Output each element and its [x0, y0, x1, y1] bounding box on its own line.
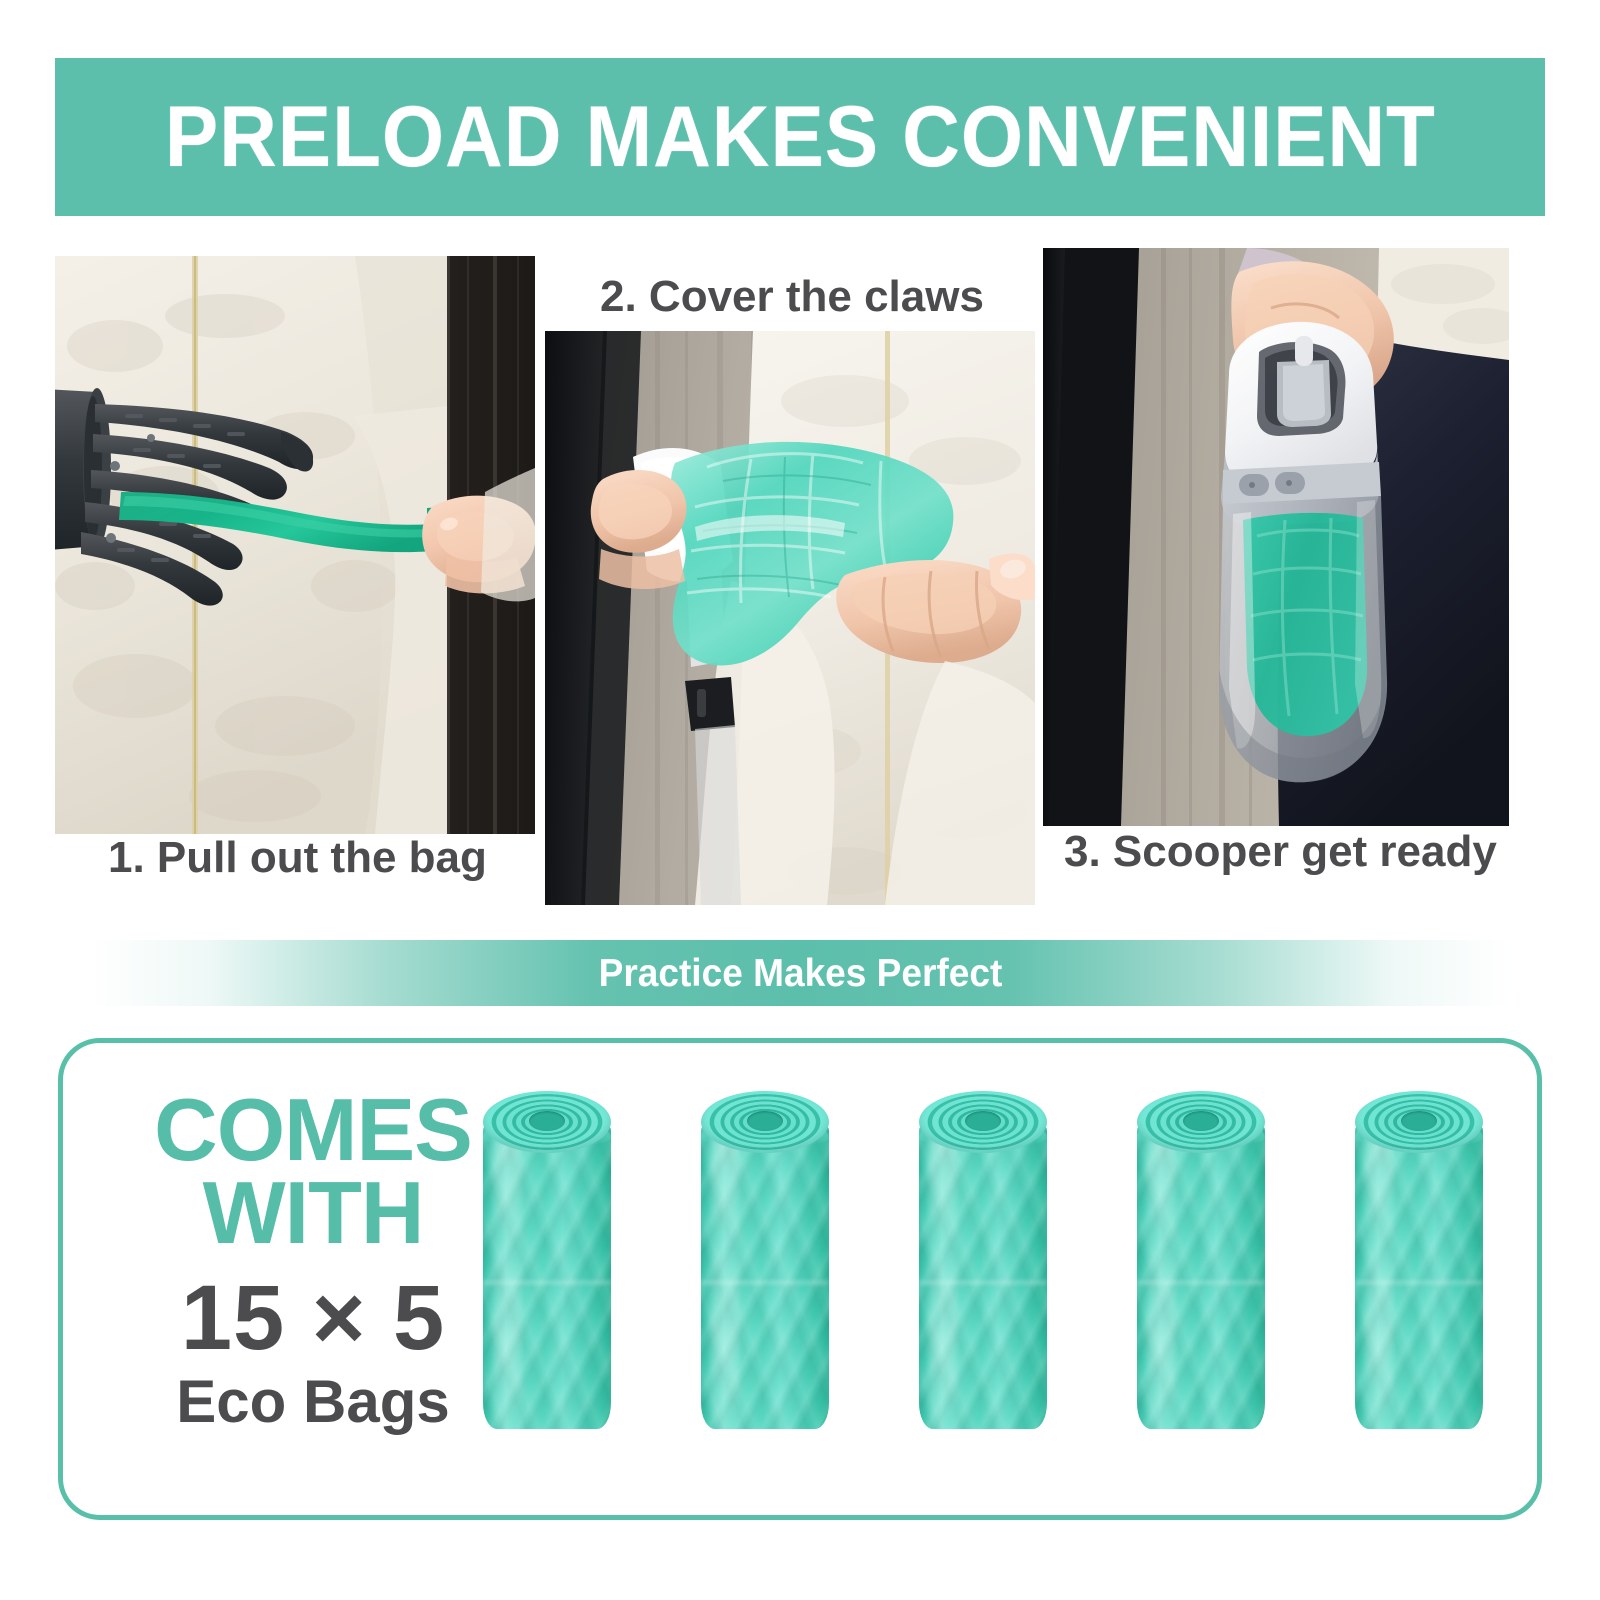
step-1-photo — [55, 256, 535, 834]
bag-roll-core-hole — [1401, 1111, 1437, 1131]
page-title: PRELOAD MAKES CONVENIENT — [164, 94, 1435, 180]
bag-roll-body — [1355, 1121, 1483, 1429]
bag-roll-spiral-top — [1137, 1091, 1265, 1153]
bag-roll — [1137, 1091, 1265, 1429]
bag-roll-core-hole — [529, 1111, 565, 1131]
step-3-caption: 3. Scooper get ready — [1064, 830, 1497, 874]
step-2-caption: 2. Cover the claws — [600, 275, 984, 319]
bundle-card: COMES WITH 15 × 5 Eco Bags — [58, 1038, 1542, 1520]
bag-roll-body — [919, 1121, 1047, 1429]
bag-roll-spiral-top — [701, 1091, 829, 1153]
comes-with-line-1: COMES — [128, 1089, 498, 1172]
comes-with-block: COMES WITH 15 × 5 Eco Bags — [128, 1089, 498, 1435]
bag-roll-creases — [1355, 1121, 1483, 1429]
bag-roll-core-hole — [965, 1111, 1001, 1131]
bag-roll-core-hole — [747, 1111, 783, 1131]
bundle-count: 15 × 5 — [128, 1270, 498, 1367]
header-banner: PRELOAD MAKES CONVENIENT — [55, 58, 1545, 216]
bag-roll — [1355, 1091, 1483, 1429]
step-3-photo — [1043, 248, 1509, 826]
practice-banner-text: Practice Makes Perfect — [598, 954, 1002, 993]
bag-roll-body — [1137, 1121, 1265, 1429]
bag-roll-core-hole — [1183, 1111, 1219, 1131]
bag-roll — [483, 1091, 611, 1429]
scooper-ready-illustration — [1043, 248, 1509, 826]
bag-roll-creases — [483, 1121, 611, 1429]
claw-pull-bag-illustration — [55, 256, 535, 834]
bag-roll-body — [483, 1121, 611, 1429]
bag-roll-spiral-top — [919, 1091, 1047, 1153]
step-1-caption: 1. Pull out the bag — [108, 836, 487, 880]
bag-roll — [919, 1091, 1047, 1429]
bag-roll-creases — [919, 1121, 1047, 1429]
bag-roll-group — [483, 1091, 1483, 1476]
bag-roll-spiral-top — [483, 1091, 611, 1153]
bag-roll-creases — [1137, 1121, 1265, 1429]
bag-roll-spiral-top — [1355, 1091, 1483, 1153]
bundle-item-label: Eco Bags — [128, 1369, 498, 1435]
bag-roll-creases — [701, 1121, 829, 1429]
bag-roll-body — [701, 1121, 829, 1429]
cover-claws-illustration — [545, 331, 1035, 905]
bag-roll — [701, 1091, 829, 1429]
comes-with-line-2: WITH — [128, 1172, 498, 1255]
practice-makes-perfect-banner: Practice Makes Perfect — [60, 940, 1540, 1006]
step-2-photo — [545, 331, 1035, 905]
